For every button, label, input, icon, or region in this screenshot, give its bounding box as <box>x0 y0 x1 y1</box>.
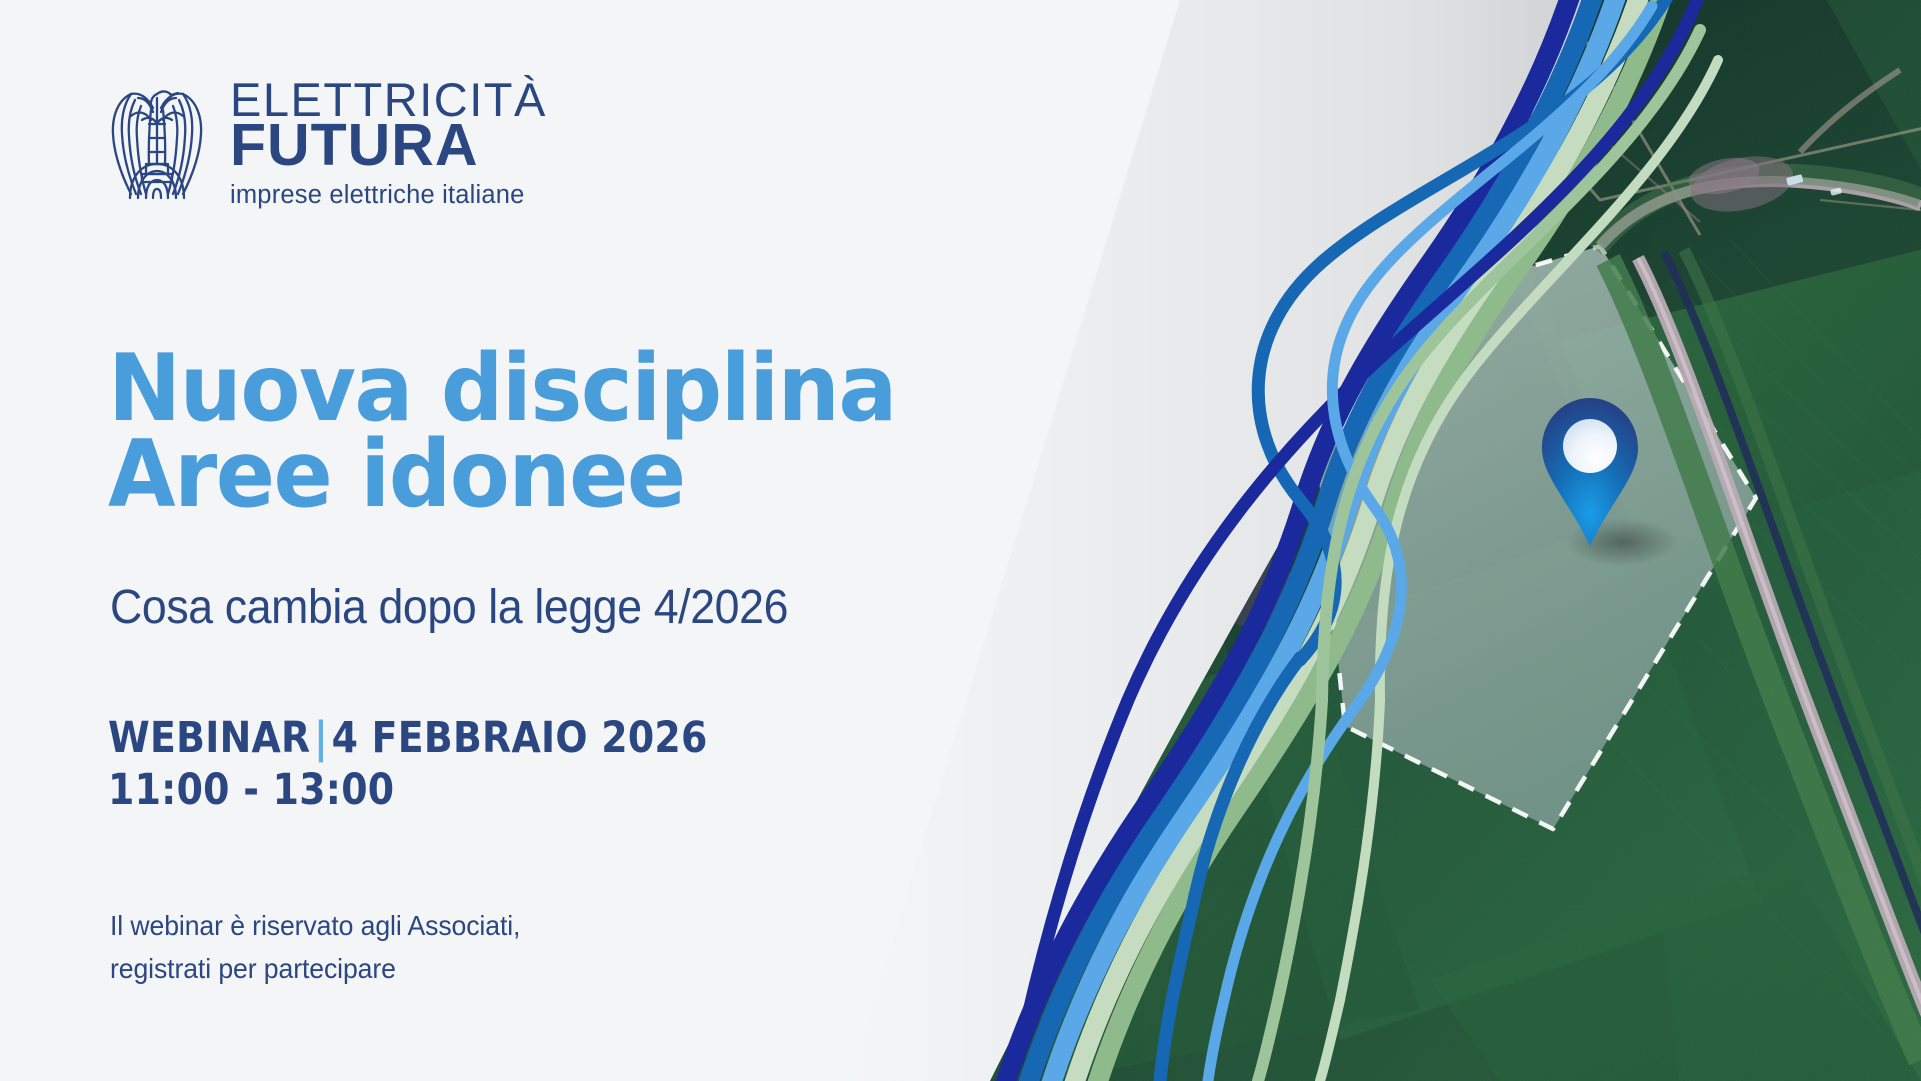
event-details: WEBINAR|4 FEBBRAIO 2026 11:00 - 13:00 <box>108 712 708 817</box>
event-separator: | <box>310 713 331 763</box>
event-time: 11:00 - 13:00 <box>108 764 708 816</box>
eagle-arch-emblem-icon <box>98 76 216 202</box>
registration-note-line2: registrati per partecipare <box>110 948 520 991</box>
event-date: 4 FEBBRAIO 2026 <box>332 713 708 763</box>
registration-note: Il webinar è riservato agli Associati, r… <box>110 905 520 990</box>
brand-wordmark: ELETTRICITÀ FUTURA imprese elettriche it… <box>230 72 547 210</box>
event-type-label: WEBINAR <box>108 713 310 763</box>
brand-tagline: imprese elettriche italiane <box>230 181 547 210</box>
page-title-line1: Nuova disciplina <box>108 345 896 431</box>
brand-logo[interactable]: ELETTRICITÀ FUTURA imprese elettriche it… <box>98 72 547 210</box>
registration-note-line1: Il webinar è riservato agli Associati, <box>110 905 520 948</box>
webinar-promo-banner: ELETTRICITÀ FUTURA imprese elettriche it… <box>0 0 1921 1081</box>
event-type-and-date: WEBINAR|4 FEBBRAIO 2026 <box>108 712 708 764</box>
page-title-line2: Aree idonee <box>108 431 896 517</box>
page-subtitle: Cosa cambia dopo la legge 4/2026 <box>110 580 788 635</box>
brand-name-line2: FUTURA <box>230 118 547 172</box>
page-title: Nuova disciplina Aree idonee <box>108 345 896 518</box>
content-panel: ELETTRICITÀ FUTURA imprese elettriche it… <box>0 0 1050 1081</box>
